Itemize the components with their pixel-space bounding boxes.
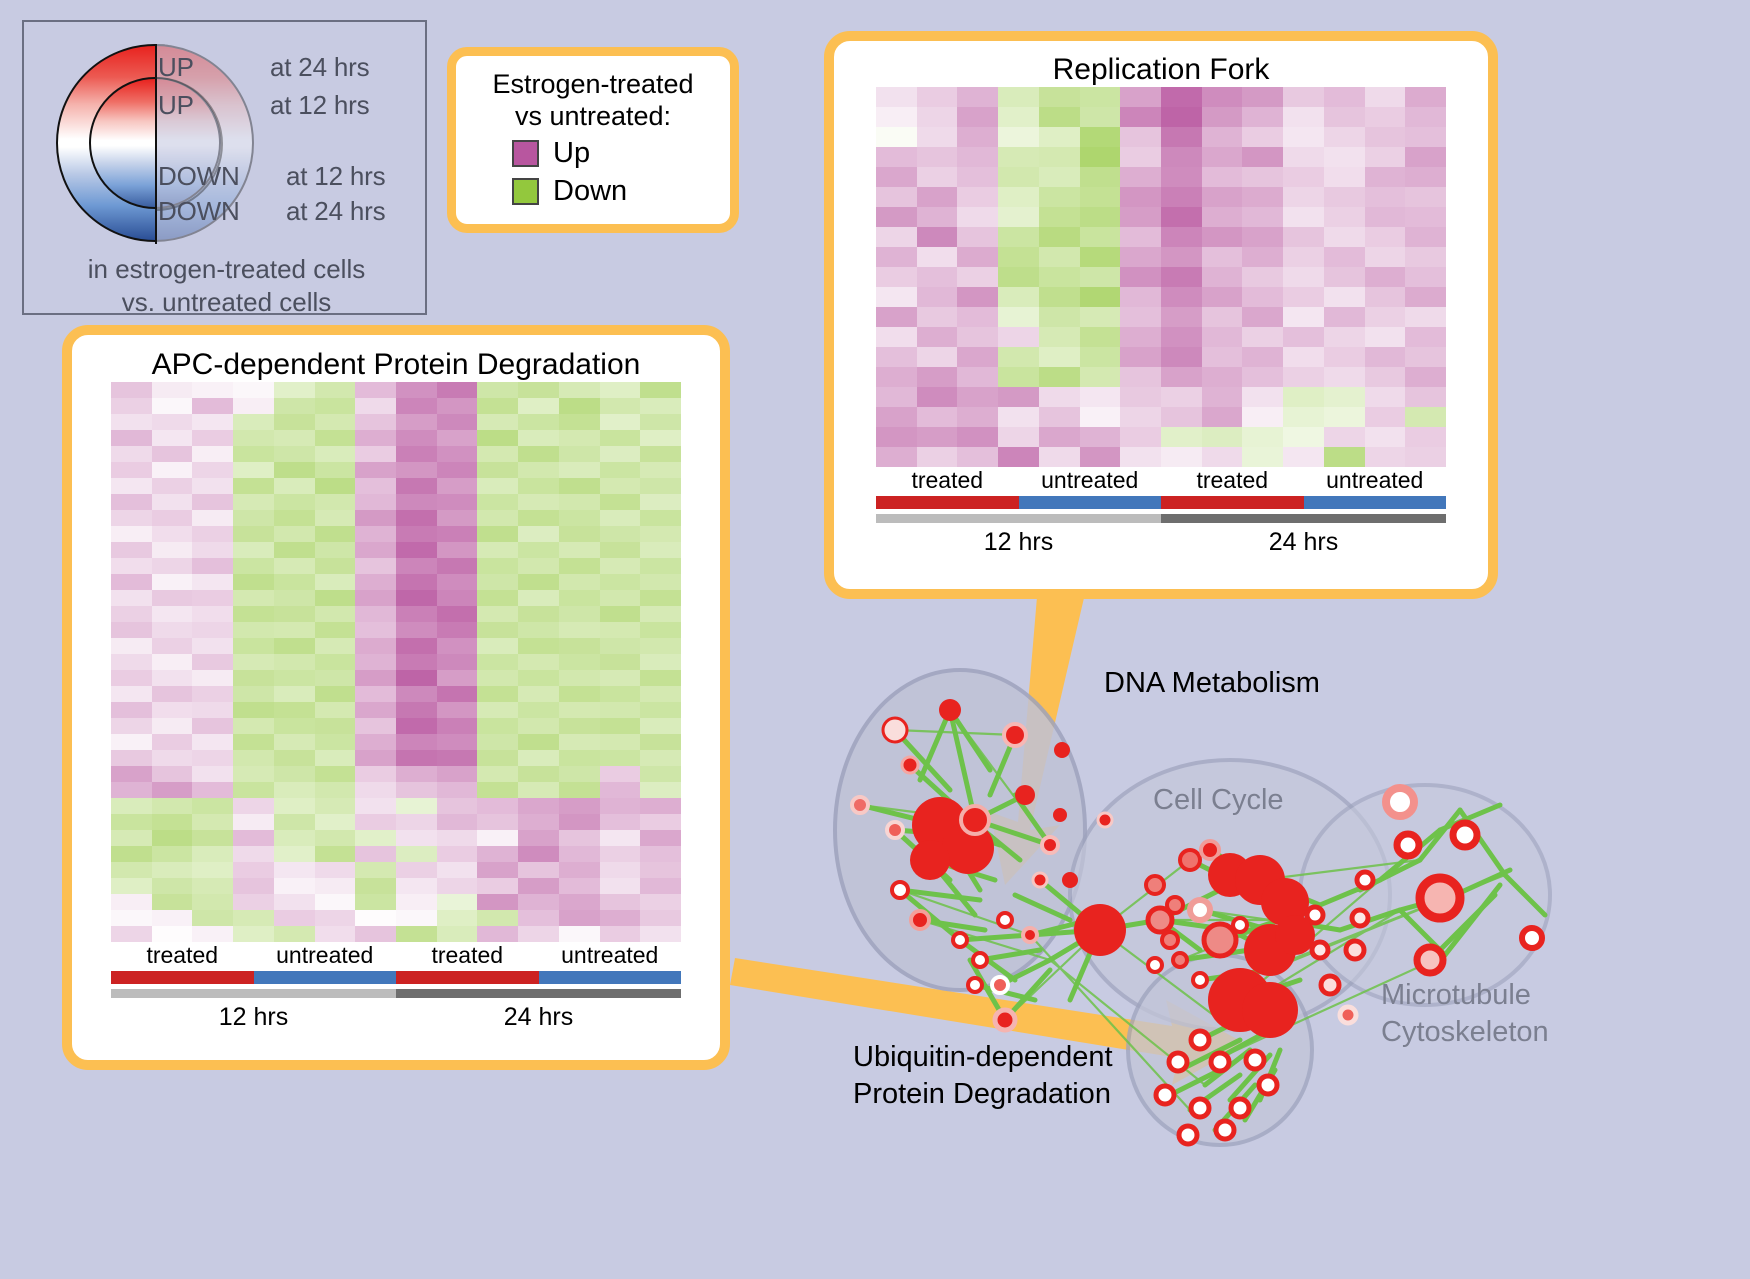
heatmap-cell <box>1283 367 1324 387</box>
heatmap-cell <box>477 830 518 846</box>
heatmap-cell <box>1202 347 1243 367</box>
heatmap-cell <box>274 606 315 622</box>
heatmap-cell <box>600 814 641 830</box>
heatmap-cell <box>1039 167 1080 187</box>
heatmap-cell <box>600 574 641 590</box>
heatmap-cell <box>600 910 641 926</box>
heatmap-cell <box>111 878 152 894</box>
heatmap-cell <box>1365 387 1406 407</box>
heatmap-cell <box>640 382 681 398</box>
heatmap-cell <box>1365 147 1406 167</box>
heatmap-cell <box>1202 187 1243 207</box>
heatmap-cell <box>998 367 1039 387</box>
heatmap-cell <box>477 734 518 750</box>
heatmap-cell <box>1202 247 1243 267</box>
heatmap-cell <box>1242 387 1283 407</box>
heatmap-cell <box>437 686 478 702</box>
heatmap-cell <box>192 622 233 638</box>
heatmap-cell <box>876 407 917 427</box>
heatmap-cell <box>437 702 478 718</box>
heatmap-cell <box>355 782 396 798</box>
heatmap-cell <box>957 107 998 127</box>
wheel-footer-line-2: vs. untreated cells <box>24 287 429 318</box>
heatmap-cell <box>600 430 641 446</box>
heatmap-cell <box>111 798 152 814</box>
heatmap-cell <box>192 766 233 782</box>
heatmap-cell <box>396 798 437 814</box>
heatmap-cell <box>876 327 917 347</box>
heatmap-cell <box>600 478 641 494</box>
cluster-label-dna-metabolism: DNA Metabolism <box>1104 667 1320 700</box>
heatmap-cell <box>559 478 600 494</box>
heatmap-cell <box>1405 367 1446 387</box>
heatmap-cell <box>876 227 917 247</box>
heatmap-cell <box>233 750 274 766</box>
heatmap-cell <box>315 494 356 510</box>
heatmap-cell <box>355 478 396 494</box>
heatmap-cell <box>477 638 518 654</box>
heatmap-cell <box>1324 307 1365 327</box>
replication-fork-heatmap[interactable] <box>876 87 1446 467</box>
heatmap-cell <box>152 478 193 494</box>
heatmap-cell <box>192 846 233 862</box>
heatmap-cell <box>477 430 518 446</box>
heatmap-cell <box>192 830 233 846</box>
heatmap-cell <box>152 622 193 638</box>
heatmap-cell <box>192 926 233 942</box>
heatmap-cell <box>396 606 437 622</box>
heatmap-cell <box>640 926 681 942</box>
heatmap-cell <box>518 574 559 590</box>
heatmap-cell <box>1120 167 1161 187</box>
heatmap-cell <box>1161 167 1202 187</box>
heatmap-cell <box>876 147 917 167</box>
heatmap-cell <box>111 446 152 462</box>
heatmap-cell <box>1120 147 1161 167</box>
heatmap-cell <box>998 307 1039 327</box>
heatmap-cell <box>876 307 917 327</box>
heatmap-cell <box>957 147 998 167</box>
heatmap-cell <box>1365 87 1406 107</box>
heatmap-cell <box>477 574 518 590</box>
heatmap-cell <box>437 510 478 526</box>
heatmap-cell <box>1405 327 1446 347</box>
heatmap-cell <box>233 686 274 702</box>
heatmap-cell <box>559 542 600 558</box>
heatmap-cell <box>192 430 233 446</box>
heatmap-cell <box>1324 227 1365 247</box>
heatmap-cell <box>233 478 274 494</box>
heatmap-cell <box>640 910 681 926</box>
heatmap-cell <box>152 894 193 910</box>
heatmap-cell <box>355 542 396 558</box>
heatmap-cell <box>1242 327 1283 347</box>
heatmap-cell <box>437 814 478 830</box>
heatmap-cell <box>477 606 518 622</box>
heatmap-cell <box>600 862 641 878</box>
heatmap-cell <box>274 878 315 894</box>
heatmap-cell <box>477 878 518 894</box>
heatmap-cell <box>152 430 193 446</box>
heatmap-cell <box>1120 347 1161 367</box>
heatmap-cell <box>1161 267 1202 287</box>
heatmap-cell <box>957 447 998 467</box>
heatmap-cell <box>437 590 478 606</box>
heatmap-cell <box>152 830 193 846</box>
heatmap-cell <box>957 307 998 327</box>
apc-time-labels: 12 hrs24 hrs <box>111 1003 681 1032</box>
heatmap-cell <box>111 638 152 654</box>
heatmap-cell <box>559 622 600 638</box>
down-color-swatch-icon <box>512 178 539 205</box>
heatmap-cell <box>559 782 600 798</box>
cluster-label-ubiquitin-line-1: Ubiquitin-dependent <box>853 1041 1113 1074</box>
heatmap-cell <box>355 382 396 398</box>
heatmap-cell <box>640 590 681 606</box>
apc-axis: treateduntreatedtreateduntreated 12 hrs2… <box>111 942 681 1032</box>
heatmap-cell <box>640 558 681 574</box>
heatmap-cell <box>1324 327 1365 347</box>
heatmap-cell <box>315 414 356 430</box>
heatmap-cell <box>1080 267 1121 287</box>
heatmap-cell <box>315 798 356 814</box>
heatmap-cell <box>1120 187 1161 207</box>
heatmap-cell <box>233 782 274 798</box>
heatmap-cell <box>876 247 917 267</box>
heatmap-cell <box>600 734 641 750</box>
heatmap-cell <box>111 398 152 414</box>
heatmap-cell <box>1405 407 1446 427</box>
heatmap-cell <box>152 590 193 606</box>
heatmap-cell <box>152 638 193 654</box>
heatmap-cell <box>274 670 315 686</box>
heatmap-cell <box>233 766 274 782</box>
heatmap-cell <box>274 862 315 878</box>
heatmap-cell <box>559 462 600 478</box>
heatmap-cell <box>274 574 315 590</box>
heatmap-cell <box>396 414 437 430</box>
replication-fork-panel: Replication Fork treateduntreatedtreated… <box>824 31 1498 599</box>
wheel-label-down-12: DOWN <box>158 161 240 192</box>
heatmap-cell <box>274 814 315 830</box>
replication-fork-time-bar <box>876 514 1446 523</box>
heatmap-cell <box>640 718 681 734</box>
heatmap-cell <box>1242 227 1283 247</box>
heatmap-cell <box>876 187 917 207</box>
heatmap-cell <box>640 830 681 846</box>
heatmap-cell <box>1120 207 1161 227</box>
heatmap-cell <box>477 814 518 830</box>
heatmap-cell <box>640 638 681 654</box>
heatmap-cell <box>1283 347 1324 367</box>
heatmap-cell <box>1039 407 1080 427</box>
heatmap-cell <box>233 398 274 414</box>
heatmap-cell <box>1202 367 1243 387</box>
heatmap-cell <box>274 830 315 846</box>
heatmap-cell <box>518 638 559 654</box>
heatmap-cell <box>1242 167 1283 187</box>
heatmap-cell <box>274 414 315 430</box>
heatmap-cell <box>274 446 315 462</box>
heatmap-cell <box>396 494 437 510</box>
heatmap-cell <box>1242 367 1283 387</box>
heatmap-cell <box>355 654 396 670</box>
heatmap-cell <box>1202 327 1243 347</box>
heatmap-cell <box>437 558 478 574</box>
heatmap-cell <box>600 686 641 702</box>
heatmap-cell <box>1039 387 1080 407</box>
heatmap-cell <box>192 894 233 910</box>
heatmap-cell <box>1242 147 1283 167</box>
heatmap-cell <box>1080 387 1121 407</box>
heatmap-cell <box>600 526 641 542</box>
heatmap-cell <box>640 862 681 878</box>
heatmap-cell <box>957 287 998 307</box>
heatmap-cell <box>396 622 437 638</box>
heatmap-cell <box>1405 187 1446 207</box>
heatmap-cell <box>192 478 233 494</box>
heatmap-cell <box>315 430 356 446</box>
heatmap-cell <box>640 814 681 830</box>
heatmap-cell <box>1080 287 1121 307</box>
heatmap-cell <box>600 670 641 686</box>
heatmap-cell <box>1365 187 1406 207</box>
heatmap-cell <box>640 846 681 862</box>
heatmap-cell <box>1080 307 1121 327</box>
heatmap-cell <box>518 494 559 510</box>
heatmap-cell <box>1365 167 1406 187</box>
heatmap-cell <box>640 446 681 462</box>
heatmap-cell <box>1283 167 1324 187</box>
heatmap-cell <box>518 830 559 846</box>
heatmap-cell <box>355 494 396 510</box>
heatmap-cell <box>477 910 518 926</box>
heatmap-cell <box>518 478 559 494</box>
heatmap-cell <box>600 542 641 558</box>
heatmap-cell <box>355 750 396 766</box>
heatmap-cell <box>1161 447 1202 467</box>
heatmap-cell <box>876 167 917 187</box>
cluster-label-microtubule-line-1: Microtubule <box>1381 979 1531 1012</box>
heatmap-cell <box>355 734 396 750</box>
heatmap-cell <box>917 267 958 287</box>
heatmap-cell <box>1242 427 1283 447</box>
heatmap-cell <box>559 638 600 654</box>
heatmap-cell <box>998 147 1039 167</box>
heatmap-cell <box>998 227 1039 247</box>
heatmap-cell <box>1039 327 1080 347</box>
heatmap-cell <box>437 638 478 654</box>
heatmap-cell <box>274 398 315 414</box>
heatmap-cell <box>192 382 233 398</box>
heatmap-cell <box>437 926 478 942</box>
heatmap-cell <box>917 87 958 107</box>
heatmap-cell <box>1120 247 1161 267</box>
heatmap-cell <box>111 670 152 686</box>
heatmap-cell <box>315 510 356 526</box>
heatmap-cell <box>640 414 681 430</box>
heatmap-cell <box>152 398 193 414</box>
heatmap-cell <box>315 670 356 686</box>
heatmap-cell <box>1283 107 1324 127</box>
heatmap-cell <box>192 414 233 430</box>
untreated-bar-2 <box>539 971 682 984</box>
heatmap-cell <box>437 782 478 798</box>
heatmap-cell <box>640 398 681 414</box>
wheel-label-up-24: UP <box>158 52 194 83</box>
heatmap-cell <box>1405 447 1446 467</box>
heatmap-cell <box>274 478 315 494</box>
heatmap-cell <box>1283 227 1324 247</box>
heatmap-cell <box>315 590 356 606</box>
wheel-time-up-24: at 24 hrs <box>270 52 369 83</box>
heatmap-cell <box>998 127 1039 147</box>
heatmap-cell <box>1283 387 1324 407</box>
heatmap-cell <box>957 427 998 447</box>
heatmap-cell <box>1405 307 1446 327</box>
heatmap-cell <box>1120 127 1161 147</box>
heatmap-cell <box>640 574 681 590</box>
heatmap-cell <box>152 542 193 558</box>
heatmap-cell <box>1365 347 1406 367</box>
heatmap-cell <box>1080 447 1121 467</box>
heatmap-cell <box>518 782 559 798</box>
heatmap-cell <box>1080 147 1121 167</box>
heatmap-cell <box>1039 227 1080 247</box>
heatmap-cell <box>315 846 356 862</box>
heatmap-cell <box>315 750 356 766</box>
untreated-bar-1 <box>1019 496 1162 509</box>
heatmap-cell <box>233 542 274 558</box>
heatmap-cell <box>1120 327 1161 347</box>
heatmap-cell <box>111 478 152 494</box>
heatmap-cell <box>518 766 559 782</box>
heatmap-cell <box>192 558 233 574</box>
apc-heatmap[interactable] <box>111 382 681 942</box>
heatmap-cell <box>1324 147 1365 167</box>
group-label: untreated <box>1019 467 1162 494</box>
wheel-time-down-12: at 12 hrs <box>286 161 385 192</box>
heatmap-cell <box>355 798 396 814</box>
replication-fork-title: Replication Fork <box>834 53 1488 87</box>
heatmap-cell <box>640 702 681 718</box>
heatmap-cell <box>315 606 356 622</box>
heatmap-cell <box>518 622 559 638</box>
heatmap-cell <box>1242 207 1283 227</box>
heatmap-cell <box>1202 267 1243 287</box>
heatmap-cell <box>396 750 437 766</box>
heatmap-cell <box>518 462 559 478</box>
heatmap-cell <box>152 574 193 590</box>
heatmap-cell <box>640 686 681 702</box>
heatmap-cell <box>111 430 152 446</box>
heatmap-cell <box>518 910 559 926</box>
heatmap-cell <box>1202 307 1243 327</box>
heatmap-cell <box>1039 287 1080 307</box>
heatmap-cell <box>233 430 274 446</box>
heatmap-cell <box>111 414 152 430</box>
heatmap-cell <box>559 574 600 590</box>
heatmap-cell <box>477 558 518 574</box>
heatmap-cell <box>1120 227 1161 247</box>
heatmap-cell <box>437 430 478 446</box>
cluster-label-ubiquitin-line-2: Protein Degradation <box>853 1078 1111 1111</box>
heatmap-cell <box>1324 207 1365 227</box>
apc-title: APC-dependent Protein Degradation <box>72 348 720 382</box>
heatmap-cell <box>437 574 478 590</box>
heatmap-cell <box>876 87 917 107</box>
heatmap-cell <box>600 590 641 606</box>
heatmap-cell <box>396 526 437 542</box>
down-label: Down <box>553 175 627 208</box>
heatmap-cell <box>1283 267 1324 287</box>
time-bar-12hrs <box>111 989 396 998</box>
heatmap-cell <box>518 670 559 686</box>
heatmap-cell <box>600 718 641 734</box>
heatmap-cell <box>518 542 559 558</box>
time-label: 12 hrs <box>111 1003 396 1032</box>
heatmap-cell <box>1039 447 1080 467</box>
heatmap-cell <box>1405 347 1446 367</box>
heatmap-cell <box>1324 367 1365 387</box>
time-label: 24 hrs <box>396 1003 681 1032</box>
heatmap-cell <box>477 894 518 910</box>
heatmap-cell <box>274 766 315 782</box>
heatmap-cell <box>518 590 559 606</box>
replication-fork-treatment-bar <box>876 496 1446 509</box>
heatmap-cell <box>957 127 998 147</box>
heatmap-cell <box>998 87 1039 107</box>
heatmap-cell <box>640 766 681 782</box>
heatmap-cell <box>233 494 274 510</box>
heatmap-cell <box>274 750 315 766</box>
heatmap-cell <box>274 430 315 446</box>
apc-time-bar <box>111 989 681 998</box>
heatmap-cell <box>1405 107 1446 127</box>
heatmap-cell <box>437 862 478 878</box>
apc-panel: APC-dependent Protein Degradation treate… <box>62 325 730 1070</box>
heatmap-cell <box>355 590 396 606</box>
heatmap-cell <box>355 638 396 654</box>
treated-bar-1 <box>111 971 254 984</box>
heatmap-cell <box>1405 147 1446 167</box>
heatmap-cell <box>1202 87 1243 107</box>
heatmap-cell <box>437 494 478 510</box>
heatmap-cell <box>477 398 518 414</box>
heatmap-cell <box>111 766 152 782</box>
heatmap-cell <box>111 718 152 734</box>
heatmap-cell <box>876 127 917 147</box>
heatmap-cell <box>559 878 600 894</box>
heatmap-cell <box>600 446 641 462</box>
heatmap-cell <box>876 287 917 307</box>
heatmap-cell <box>111 558 152 574</box>
heatmap-cell <box>192 494 233 510</box>
group-label: treated <box>111 942 254 969</box>
heatmap-cell <box>1283 127 1324 147</box>
heatmap-cell <box>437 414 478 430</box>
heatmap-cell <box>437 542 478 558</box>
heatmap-cell <box>152 782 193 798</box>
heatmap-cell <box>1324 167 1365 187</box>
heatmap-cell <box>437 382 478 398</box>
heatmap-cell <box>192 462 233 478</box>
heatmap-cell <box>1080 187 1121 207</box>
heatmap-cell <box>477 702 518 718</box>
heatmap-cell <box>1405 207 1446 227</box>
heatmap-cell <box>559 590 600 606</box>
color-wheel-legend: UP at 24 hrs UP at 12 hrs DOWN at 12 hrs… <box>22 20 427 315</box>
